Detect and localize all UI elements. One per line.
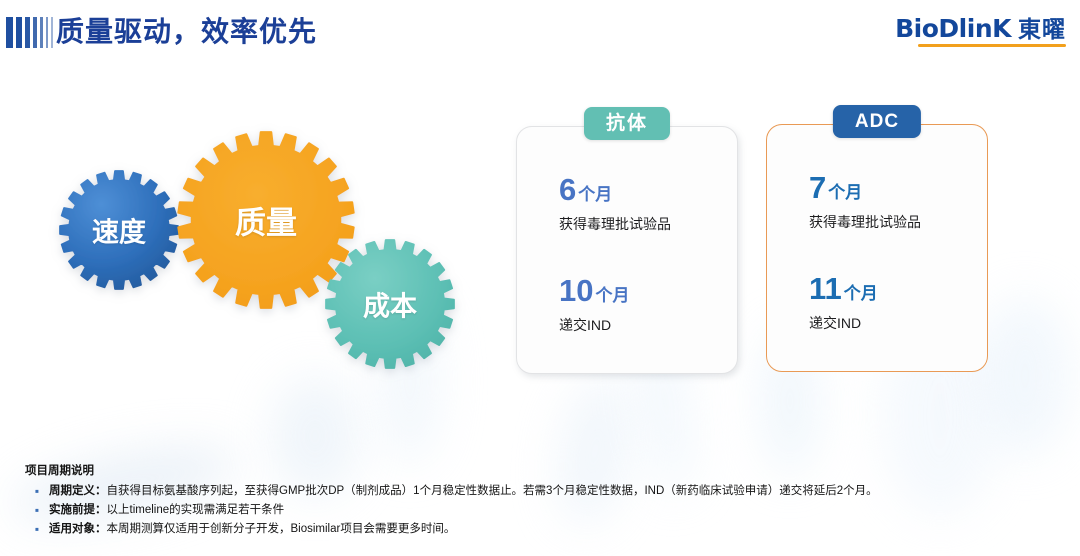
footnote-text: 以上timeline的实现需满足若干条件 xyxy=(107,504,285,516)
logo-underline xyxy=(918,44,1066,47)
metric-adc-tox: 7个月 获得毒理批试验品 xyxy=(809,172,921,232)
metric-value: 11 xyxy=(809,271,842,306)
footnotes-block: 项目周期说明 ▪ 周期定义：自获得目标氨基酸序列起，至获得GMP批次DP（制剂成… xyxy=(25,462,1065,541)
footnotes-title: 项目周期说明 xyxy=(25,462,1065,478)
gear-label-cost: 成本 xyxy=(363,285,417,324)
metric-unit: 个月 xyxy=(578,185,612,204)
footnote-item: ▪ 适用对象：本周期测算仅适用于创新分子开发，Biosimilar项目会需要更多… xyxy=(25,522,1065,537)
card-badge-antibody: 抗体 xyxy=(584,107,670,140)
logo-text-en: BioDlinK xyxy=(895,16,1011,41)
metric-value: 6 xyxy=(559,172,576,207)
metric-desc: 获得毒理批试验品 xyxy=(559,214,671,234)
slide-canvas: 质量驱动，效率优先 BioDlinK 東曜 xyxy=(0,0,1080,556)
metric-desc: 递交IND xyxy=(809,313,878,333)
footnote-text: 本周期测算仅适用于创新分子开发，Biosimilar项目会需要更多时间。 xyxy=(107,523,456,535)
metric-desc: 获得毒理批试验品 xyxy=(809,212,921,232)
metric-value: 10 xyxy=(559,273,593,308)
bullet-icon: ▪ xyxy=(25,484,49,499)
timeline-card-antibody[interactable]: 抗体 6个月 获得毒理批试验品 10个月 递交IND xyxy=(516,126,738,374)
footnote-item: ▪ 实施前提：以上timeline的实现需满足若干条件 xyxy=(25,503,1065,518)
timeline-card-adc[interactable]: ADC 7个月 获得毒理批试验品 11个月 递交IND xyxy=(766,124,988,372)
metric-unit: 个月 xyxy=(844,284,878,303)
footnote-label: 适用对象： xyxy=(49,523,107,535)
metric-value: 7 xyxy=(809,170,826,205)
footnote-item: ▪ 周期定义：自获得目标氨基酸序列起，至获得GMP批次DP（制剂成品）1个月稳定… xyxy=(25,484,1065,499)
footnote-label: 实施前提： xyxy=(49,504,107,516)
metric-desc: 递交IND xyxy=(559,315,629,335)
card-badge-adc: ADC xyxy=(833,105,921,138)
gear-cluster-graphic: 速度 质量 成本 xyxy=(0,0,520,420)
gear-label-quality: 质量 xyxy=(235,198,297,243)
metric-antibody-tox: 6个月 获得毒理批试验品 xyxy=(559,174,671,234)
footnote-label: 周期定义： xyxy=(49,485,107,497)
metric-antibody-ind: 10个月 递交IND xyxy=(559,275,629,335)
bullet-icon: ▪ xyxy=(25,522,49,537)
logo-text-cn: 東曜 xyxy=(1018,18,1066,41)
footnote-text: 自获得目标氨基酸序列起，至获得GMP批次DP（制剂成品）1个月稳定性数据止。若需… xyxy=(107,485,878,497)
bullet-icon: ▪ xyxy=(25,503,49,518)
metric-unit: 个月 xyxy=(595,286,629,305)
metric-unit: 个月 xyxy=(828,183,862,202)
metric-adc-ind: 11个月 递交IND xyxy=(809,273,878,333)
gear-label-speed: 速度 xyxy=(92,211,146,250)
brand-logo: BioDlinK 東曜 xyxy=(895,16,1066,47)
